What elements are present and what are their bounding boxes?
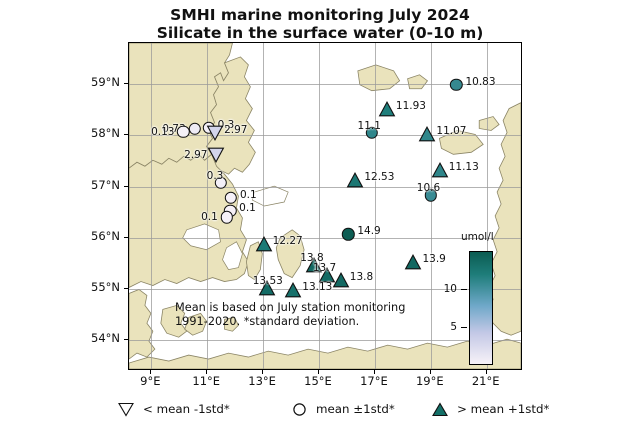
circle-marker-glyph [188,122,200,134]
station-value-label: 10.83 [465,76,495,88]
triangle-up-marker-glyph [406,255,421,269]
station-value-label: 14.9 [357,225,380,237]
colorbar-tick-mark [461,327,467,328]
title-line-1: SMHI marine monitoring July 2024 [0,6,640,24]
y-tick-mark [124,288,128,289]
station-marker[interactable] [380,102,395,116]
triangle-up-marker-glyph [420,127,435,141]
station-marker[interactable] [406,255,421,269]
footnote-line-2: 1991-2020. *standard deviation. [175,315,405,329]
graticule-parallel [129,340,521,341]
station-value-label: 13.8 [350,271,373,283]
footnote: Mean is based on July station monitoring… [175,301,405,329]
graticule-parallel [129,187,521,188]
station-value-label: 12.27 [273,235,303,247]
station-marker[interactable] [256,237,271,251]
station-marker[interactable] [209,148,224,162]
station-value-label: 12.53 [364,171,394,183]
circle-marker-glyph [342,228,354,240]
x-tick-label: 15°E [304,374,332,388]
legend-item-label: > mean +1std* [457,402,549,416]
station-value-label: 2.97 [184,149,207,161]
circle-marker-glyph [225,192,237,204]
station-value-label: 2.97 [224,124,247,136]
station-value-label: 0.3 [207,170,224,182]
colorbar-gradient [469,251,493,365]
colorbar-unit-label: umol/l [461,231,494,243]
station-marker[interactable] [420,127,435,141]
legend-item-label: < mean -1std* [143,402,230,416]
station-marker[interactable] [450,79,462,91]
map-axes[interactable]: 0.730.30.13 2.97 2.970.30.10.10.110.83 1… [128,42,522,370]
title-line-2: Silicate in the surface water (0-10 m) [0,24,640,42]
station-marker[interactable] [432,163,447,177]
station-value-label: 0.1 [239,202,256,214]
station-marker[interactable] [208,126,223,140]
station-value-label: 0.13 [151,126,174,138]
circle-marker-glyph [450,79,462,91]
y-tick-mark [124,186,128,187]
colorbar-tick-label: 10 [444,283,457,295]
station-marker[interactable] [348,174,363,188]
circle-marker-glyph [221,211,233,223]
station-marker[interactable] [225,192,237,204]
legend-item-label: mean ±1std* [316,402,395,416]
chart-title: SMHI marine monitoring July 2024 Silicat… [0,6,640,42]
station-value-label: 13.13 [302,281,332,293]
station-value-label: 11.93 [396,100,426,112]
colorbar-tick-mark [461,289,467,290]
circle-marker-glyph [177,125,189,137]
graticule-meridian [431,43,432,369]
station-value-label: 11.13 [449,161,479,173]
station-marker[interactable] [333,273,348,287]
legend-triangle-down-icon [118,402,134,417]
triangle-up-marker-glyph [256,237,271,251]
triangle-up-marker-glyph [432,163,447,177]
footnote-line-1: Mean is based on July station monitoring [175,301,405,315]
figure-root: SMHI marine monitoring July 2024 Silicat… [0,0,640,436]
triangle-up-marker-glyph [333,273,348,287]
y-tick-mark [124,134,128,135]
triangle-up-marker-glyph [380,102,395,116]
triangle-up-marker-glyph [348,174,363,188]
station-marker[interactable] [342,228,354,240]
station-marker[interactable] [286,283,301,297]
legend-triangle-up-icon [432,402,448,417]
station-marker[interactable] [177,125,189,137]
y-tick-mark [124,83,128,84]
station-value-label: 13.9 [422,253,445,265]
triangle-up-marker-glyph [286,283,301,297]
legend-item: < mean -1std* [118,396,230,422]
colorbar-tick-label: 5 [450,321,457,333]
y-tick-mark [124,339,128,340]
station-value-label: 13.53 [253,275,283,287]
station-value-label: 13.7 [313,262,336,274]
legend-item: mean ±1std* [292,396,395,422]
x-tick-label: 11°E [192,374,220,388]
station-value-label: 0.1 [240,189,257,201]
y-tick-mark [124,237,128,238]
x-tick-label: 19°E [416,374,444,388]
x-tick-label: 21°E [472,374,500,388]
station-value-label: 11.1 [358,120,381,132]
triangle-down-marker-glyph [209,148,224,162]
graticule-meridian [151,43,152,369]
x-tick-label: 9°E [140,374,160,388]
station-marker[interactable] [221,211,233,223]
station-marker[interactable] [188,122,200,134]
legend-item: > mean +1std* [432,396,549,422]
legend-circle-icon [292,402,307,417]
triangle-down-marker-glyph [208,126,223,140]
station-value-label: 10.6 [417,182,440,194]
symbol-legend: < mean -1std* mean ±1std* > mean +1std* [0,396,640,428]
x-tick-label: 13°E [248,374,276,388]
station-value-label: 11.07 [436,125,466,137]
x-tick-label: 17°E [360,374,388,388]
station-value-label: 0.1 [201,211,218,223]
